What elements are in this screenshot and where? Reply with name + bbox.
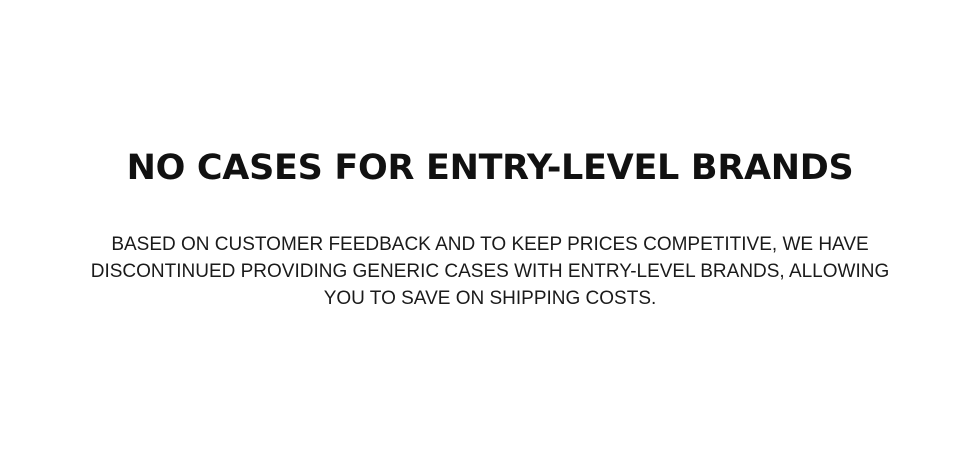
promo-body-text: BASED ON CUSTOMER FEEDBACK AND TO KEEP P… bbox=[90, 188, 890, 312]
promo-banner: NO CASES FOR ENTRY-LEVEL BRANDS BASED ON… bbox=[0, 0, 980, 450]
promo-body-line-3: YOU TO SAVE ON SHIPPING COSTS. bbox=[90, 285, 890, 312]
promo-body-line-2: DISCONTINUED PROVIDING GENERIC CASES WIT… bbox=[90, 258, 890, 285]
promo-heading: NO CASES FOR ENTRY-LEVEL BRANDS bbox=[40, 148, 940, 188]
promo-body-line-1: BASED ON CUSTOMER FEEDBACK AND TO KEEP P… bbox=[90, 231, 890, 258]
promo-content: NO CASES FOR ENTRY-LEVEL BRANDS BASED ON… bbox=[40, 148, 940, 312]
